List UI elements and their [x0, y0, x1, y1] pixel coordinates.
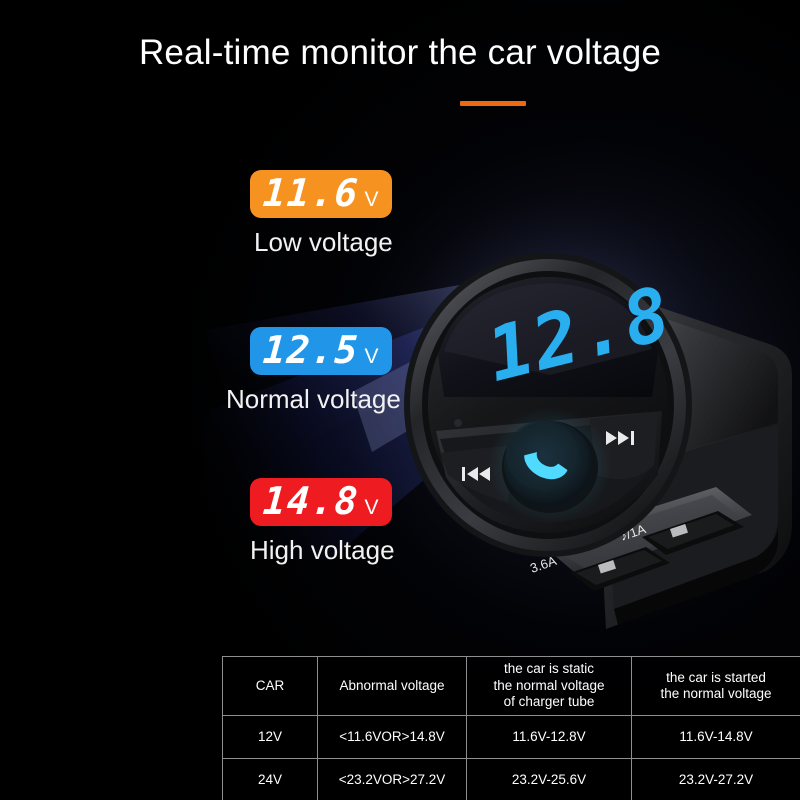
voltage-badge-high-value: 14.8	[262, 482, 360, 520]
table-cell-abnormal: <11.6VOR>14.8V	[318, 716, 467, 759]
voltage-badge-normal: 12.5 V Normal voltage	[250, 327, 401, 415]
voltage-badge-normal-chip: 12.5 V	[250, 327, 392, 375]
voltage-badge-low-unit: V	[365, 189, 379, 210]
voltage-badge-high-chip: 14.8 V	[250, 478, 392, 526]
title-accent-rule	[460, 101, 526, 106]
table-cell-static-normal: 23.2V-25.6V	[467, 759, 632, 800]
voltage-spec-table: CAR Abnormal voltage the car is staticth…	[222, 656, 800, 800]
voltage-badge-high-caption: High voltage	[250, 535, 395, 566]
table-header-started-normal: the car is startedthe normal voltage	[632, 657, 800, 716]
table-cell-started-normal: 23.2V-27.2V	[632, 759, 800, 800]
device-face: 12.8	[404, 253, 692, 557]
table-header-static-normal: the car is staticthe normal voltageof ch…	[467, 657, 632, 716]
voltage-badge-high-unit: V	[365, 497, 379, 518]
page-title: Real-time monitor the car voltage	[0, 33, 800, 73]
product-feature-graphic: Real-time monitor the car voltage	[0, 0, 800, 800]
call-button[interactable]	[488, 407, 612, 523]
voltage-badge-low-caption: Low voltage	[254, 227, 393, 258]
table-header-row: CAR Abnormal voltage the car is staticth…	[223, 657, 800, 716]
table-cell-car: 24V	[223, 759, 318, 800]
voltage-badge-normal-caption: Normal voltage	[226, 384, 401, 415]
table-cell-abnormal: <23.2VOR>27.2V	[318, 759, 467, 800]
table-cell-car: 12V	[223, 716, 318, 759]
voltage-badge-normal-value: 12.5	[262, 331, 360, 369]
voltage-badge-low-chip: 11.6 V	[250, 170, 392, 218]
table-header-car: CAR	[223, 657, 318, 716]
table-row: 12V <11.6VOR>14.8V 11.6V-12.8V 11.6V-14.…	[223, 716, 800, 759]
table-row: 24V <23.2VOR>27.2V 23.2V-25.6V 23.2V-27.…	[223, 759, 800, 800]
table-cell-started-normal: 11.6V-14.8V	[632, 716, 800, 759]
table-cell-static-normal: 11.6V-12.8V	[467, 716, 632, 759]
voltage-badge-high: 14.8 V High voltage	[250, 478, 395, 566]
voltage-badge-low-value: 11.6	[262, 174, 360, 212]
car-charger-device: 3.6A ♪/1A 12.8	[400, 225, 800, 655]
table-header-abnormal: Abnormal voltage	[318, 657, 467, 716]
voltage-badge-normal-unit: V	[365, 346, 379, 367]
status-led	[454, 419, 462, 427]
voltage-badge-low: 11.6 V Low voltage	[250, 170, 393, 258]
